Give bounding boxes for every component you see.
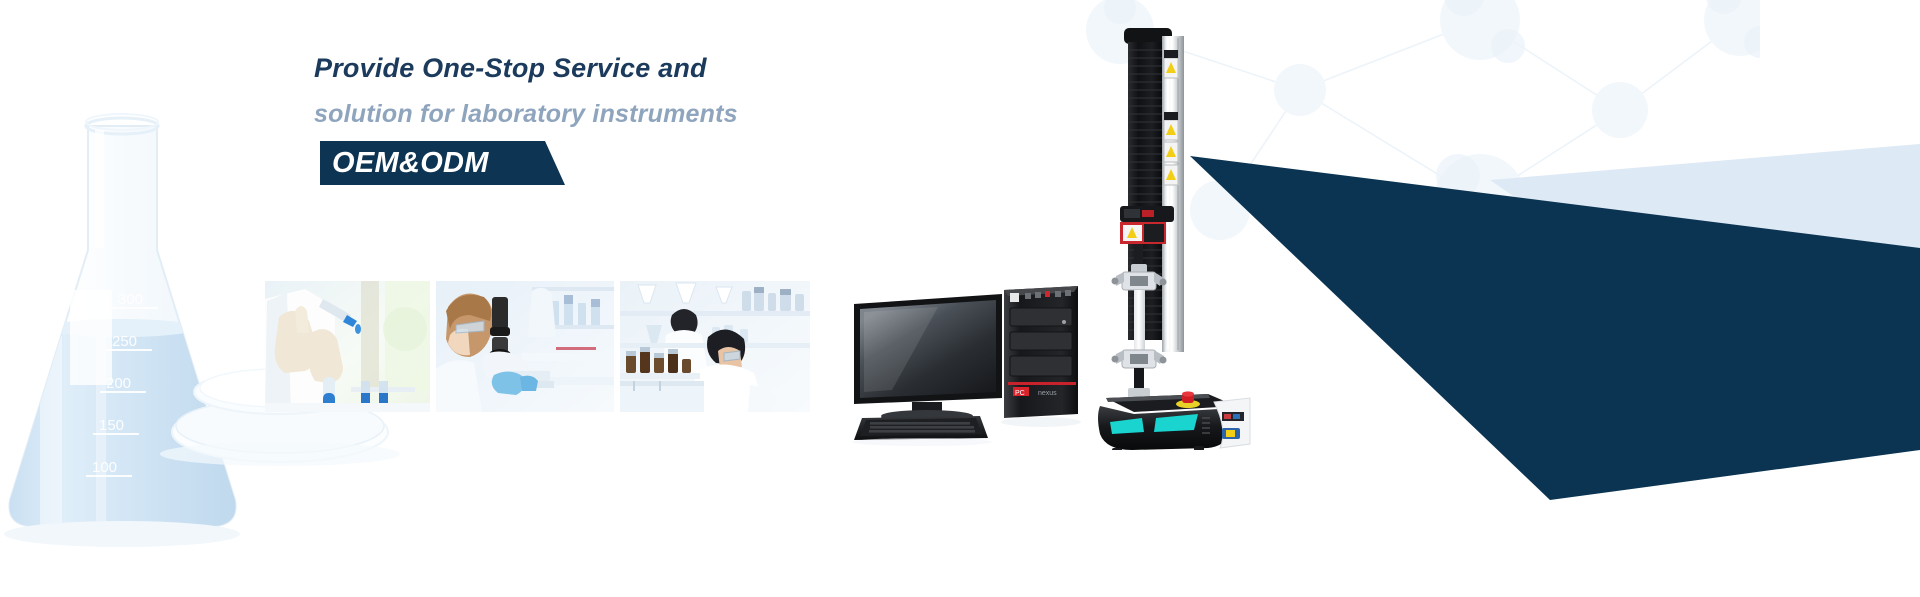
photo-pipetting bbox=[265, 281, 430, 412]
light-blue-arrow bbox=[1490, 144, 1920, 370]
headline-block: Provide One-Stop Service and solution fo… bbox=[314, 55, 954, 185]
crosshead bbox=[1120, 206, 1174, 244]
graduation-250: 250 bbox=[112, 333, 137, 350]
universal-testing-machine bbox=[1090, 20, 1290, 450]
specimen bbox=[1134, 290, 1145, 352]
photo-strip bbox=[265, 281, 810, 412]
warning-label bbox=[1164, 142, 1178, 162]
svg-text:nexus: nexus bbox=[1038, 390, 1057, 397]
headline-secondary: solution for laboratory instruments bbox=[314, 102, 954, 127]
headline-primary: Provide One-Stop Service and bbox=[314, 55, 954, 82]
warning-label bbox=[1164, 50, 1178, 78]
graduation-300: 300 bbox=[118, 291, 143, 308]
badge-label: OEM&ODM bbox=[320, 141, 503, 185]
graduation-200: 200 bbox=[106, 375, 131, 392]
desktop-computer: PC nexus bbox=[852, 286, 1112, 446]
photo-lab-bench bbox=[620, 281, 810, 412]
oem-odm-badge: OEM&ODM bbox=[320, 141, 503, 185]
warning-label bbox=[1164, 165, 1178, 185]
graduation-150: 150 bbox=[99, 417, 124, 434]
graduation-100: 100 bbox=[92, 459, 117, 476]
monitor bbox=[854, 294, 1002, 425]
tower-badge-label: PC bbox=[1015, 390, 1025, 397]
navy-arrow bbox=[1190, 156, 1920, 500]
lower-grip bbox=[1112, 350, 1167, 398]
banner-root: 300 250 200 150 100 Provide One-Stop Ser… bbox=[0, 0, 1920, 597]
decorative-arrows bbox=[1190, 120, 1920, 500]
warning-label bbox=[1164, 112, 1178, 140]
tower: PC nexus bbox=[1001, 286, 1081, 427]
keyboard bbox=[852, 416, 992, 446]
photo-microscope bbox=[436, 281, 614, 412]
